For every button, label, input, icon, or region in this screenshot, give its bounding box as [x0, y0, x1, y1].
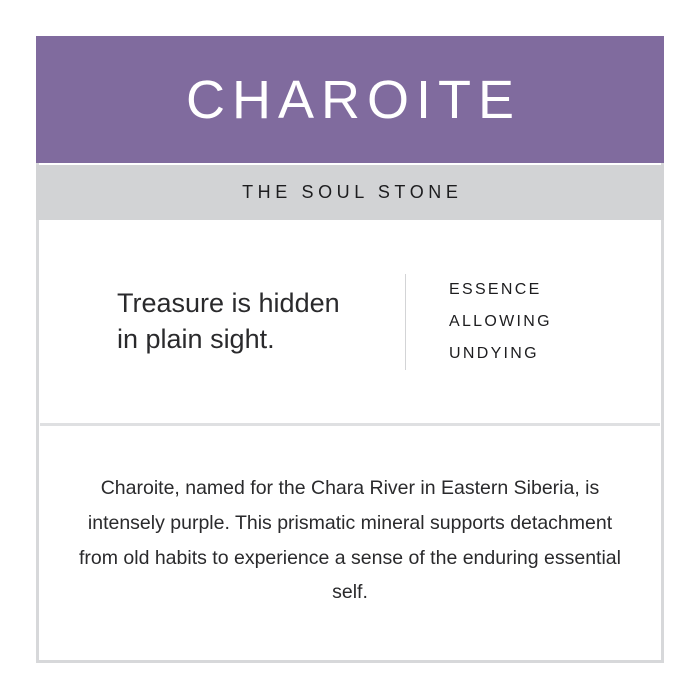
subtitle-band: THE SOUL STONE	[36, 165, 664, 220]
description-panel: Charoite, named for the Chara River in E…	[39, 426, 661, 655]
stone-info-card: CHAROITE THE SOUL STONE Treasure is hidd…	[36, 36, 664, 663]
essence-keyword-list: ESSENCE ALLOWING UNDYING	[406, 282, 552, 362]
quote-panel: Treasure is hidden in plain sight. ESSEN…	[39, 220, 661, 423]
page-title: CHAROITE	[179, 73, 521, 127]
essence-keyword-3: UNDYING	[449, 346, 552, 362]
essence-keyword-1: ESSENCE	[449, 282, 552, 298]
quote-block: Treasure is hidden in plain sight.	[39, 286, 405, 358]
title-band: CHAROITE	[36, 36, 664, 163]
description-text: Charoite, named for the Chara River in E…	[73, 471, 627, 610]
essence-keyword-2: ALLOWING	[449, 314, 552, 330]
subtitle-text: THE SOUL STONE	[237, 182, 462, 203]
quote-text: Treasure is hidden in plain sight.	[117, 286, 405, 358]
